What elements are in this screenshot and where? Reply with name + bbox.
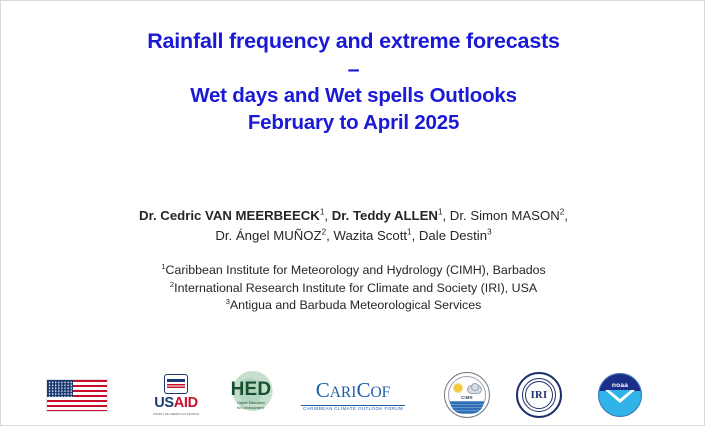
usaid-us-text: US [154, 395, 174, 411]
author-sup-6: 3 [487, 227, 492, 236]
usaid-logo: USAID FROM THE AMERICAN PEOPLE [139, 367, 213, 423]
author-name-scott: , Wazita Scott [326, 228, 407, 243]
author-line-1: Dr. Cedric VAN MEERBEECK1, Dr. Teddy ALL… [1, 206, 705, 226]
affiliation-text: International Research Institute for Cli… [174, 281, 537, 295]
cloud-icon [467, 385, 482, 394]
usaid-wordmark: USAID [154, 396, 198, 411]
title-line-3: February to April 2025 [1, 109, 705, 136]
affiliation-item: 1Caribbean Institute for Meteorology and… [1, 262, 705, 280]
logo-row: USAID FROM THE AMERICAN PEOPLE HED Highe… [1, 367, 705, 423]
caricof-ari: ARI [330, 384, 357, 401]
hed-tagline-line-1: Higher Education [237, 401, 265, 406]
author-name-van-meerbeeck: Dr. Cedric VAN MEERBEECK [139, 208, 320, 223]
caricof-of: OF [370, 384, 390, 401]
title-line-2: Wet days and Wet spells Outlooks [1, 82, 705, 109]
us-flag-icon [46, 379, 108, 412]
author-list: Dr. Cedric VAN MEERBEECK1, Dr. Teddy ALL… [1, 206, 705, 245]
author-name-munoz: Dr. Ángel MUÑOZ [215, 228, 321, 243]
presentation-slide: Rainfall frequency and extreme forecasts… [0, 0, 705, 426]
sun-icon [454, 384, 462, 392]
affiliation-list: 1Caribbean Institute for Meteorology and… [1, 262, 705, 315]
caricof-divider [301, 405, 405, 406]
cimh-label: CIMH [445, 395, 489, 400]
title-line-1: Rainfall frequency and extreme forecasts [1, 27, 705, 56]
noaa-seal-icon: noaa [598, 373, 642, 417]
affiliation-text: Antigua and Barbuda Meteorological Servi… [230, 298, 481, 312]
usaid-aid-text: AID [174, 395, 198, 411]
title-dash: – [1, 56, 705, 82]
iri-logo: IRI [516, 367, 562, 423]
water-waves-icon [450, 401, 484, 414]
caricof-logo: CARICOF CARIBBEAN CLIMATE OUTLOOK FORUM [293, 367, 413, 423]
caricof-c1: C [316, 378, 330, 402]
author-sep-1: , [324, 208, 331, 223]
caricof-c2: C [356, 378, 370, 402]
hed-tagline-line-2: for Development· [237, 406, 265, 411]
author-name-destin: , Dale Destin [412, 228, 488, 243]
affiliation-item: 2International Research Institute for Cl… [1, 280, 705, 298]
caricof-tagline: CARIBBEAN CLIMATE OUTLOOK FORUM [303, 406, 403, 411]
hed-tagline: Higher Education for Development· [237, 401, 265, 410]
hed-logo: HED Higher Education for Development· [213, 367, 289, 423]
iri-seal-icon: IRI [516, 372, 562, 418]
author-name-mason: , Dr. Simon MASON [442, 208, 559, 223]
author-line-1-tail: , [564, 208, 568, 223]
cimh-logo: CIMH [443, 367, 491, 423]
cimh-seal-icon: CIMH [444, 372, 490, 418]
affiliation-text: Caribbean Institute for Meteorology and … [166, 263, 546, 277]
author-line-2: Dr. Ángel MUÑOZ2, Wazita Scott1, Dale De… [1, 226, 705, 246]
us-flag-logo [45, 367, 109, 423]
usaid-tagline: FROM THE AMERICAN PEOPLE [153, 412, 199, 416]
usaid-shield-icon [164, 374, 188, 394]
affiliation-item: 3Antigua and Barbuda Meteorological Serv… [1, 297, 705, 315]
slide-title: Rainfall frequency and extreme forecasts… [1, 27, 705, 136]
caricof-wordmark: CARICOF [316, 379, 391, 404]
author-name-allen: Dr. Teddy ALLEN [332, 208, 438, 223]
iri-label: IRI [531, 390, 548, 401]
hed-wordmark: HED [231, 380, 272, 400]
noaa-logo: noaa [596, 367, 644, 423]
